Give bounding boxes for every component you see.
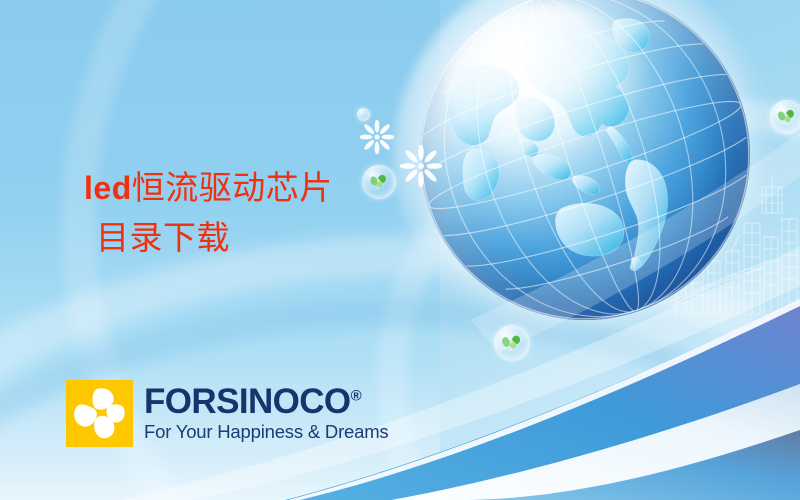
white-flower-burst-icon <box>360 120 394 159</box>
headline-line-2: 目录下载 <box>84 214 404 264</box>
white-flower-burst-icon <box>400 145 442 192</box>
headline-line-1-cjk: 恒流驱动芯片 <box>132 171 333 207</box>
page-title: led恒流驱动芯片 目录下载 <box>84 164 404 264</box>
logo-wordmark-text: FORSINOCO <box>144 382 351 421</box>
bubble-with-green-sprout-icon <box>494 325 530 361</box>
brand-logo[interactable]: FORSINOCO® For Your Happiness & Dreams <box>66 380 388 447</box>
headline-line-1-latin: led <box>84 170 132 206</box>
bubble-icon <box>357 108 370 121</box>
logo-text-block: FORSINOCO® For Your Happiness & Dreams <box>144 385 388 443</box>
headline-line-1: led恒流驱动芯片 <box>84 164 404 214</box>
logo-wordmark: FORSINOCO® <box>144 385 388 419</box>
logo-tagline: For Your Happiness & Dreams <box>144 421 388 442</box>
bubble-with-green-sprout-icon <box>770 100 800 134</box>
registered-trademark-icon: ® <box>351 387 362 404</box>
four-petal-flower-icon <box>66 380 133 447</box>
banner-canvas: led恒流驱动芯片 目录下载 FORSINOCO® For Your Happ <box>0 0 800 500</box>
